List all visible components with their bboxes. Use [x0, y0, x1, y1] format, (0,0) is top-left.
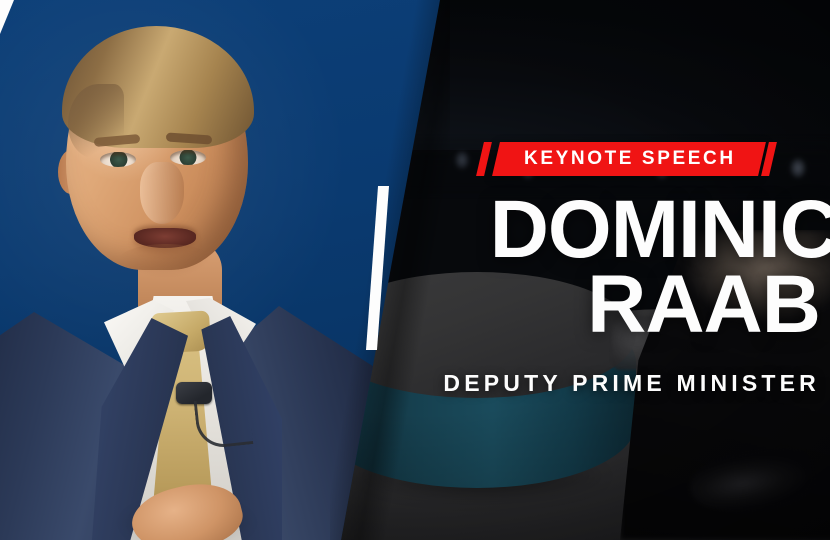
eyebrow-banner: KEYNOTE SPEECH: [492, 142, 766, 176]
portrait-hair: [62, 26, 254, 148]
title-block: DOMINIC RAAB: [264, 192, 824, 343]
title-card-graphic: KEYNOTE SPEECH DOMINIC RAAB DEPUTY PRIME…: [0, 0, 830, 540]
portrait-nose: [140, 162, 184, 224]
eyebrow-label: KEYNOTE SPEECH: [524, 148, 736, 170]
title-line-second: RAAB: [264, 267, 820, 342]
portrait-eye-right: [170, 150, 206, 165]
title-line-first: DOMINIC: [264, 192, 830, 267]
subtitle-role: DEPUTY PRIME MINISTER: [443, 370, 820, 397]
portrait-chin: [118, 244, 214, 278]
portrait-eye-left: [100, 152, 136, 167]
